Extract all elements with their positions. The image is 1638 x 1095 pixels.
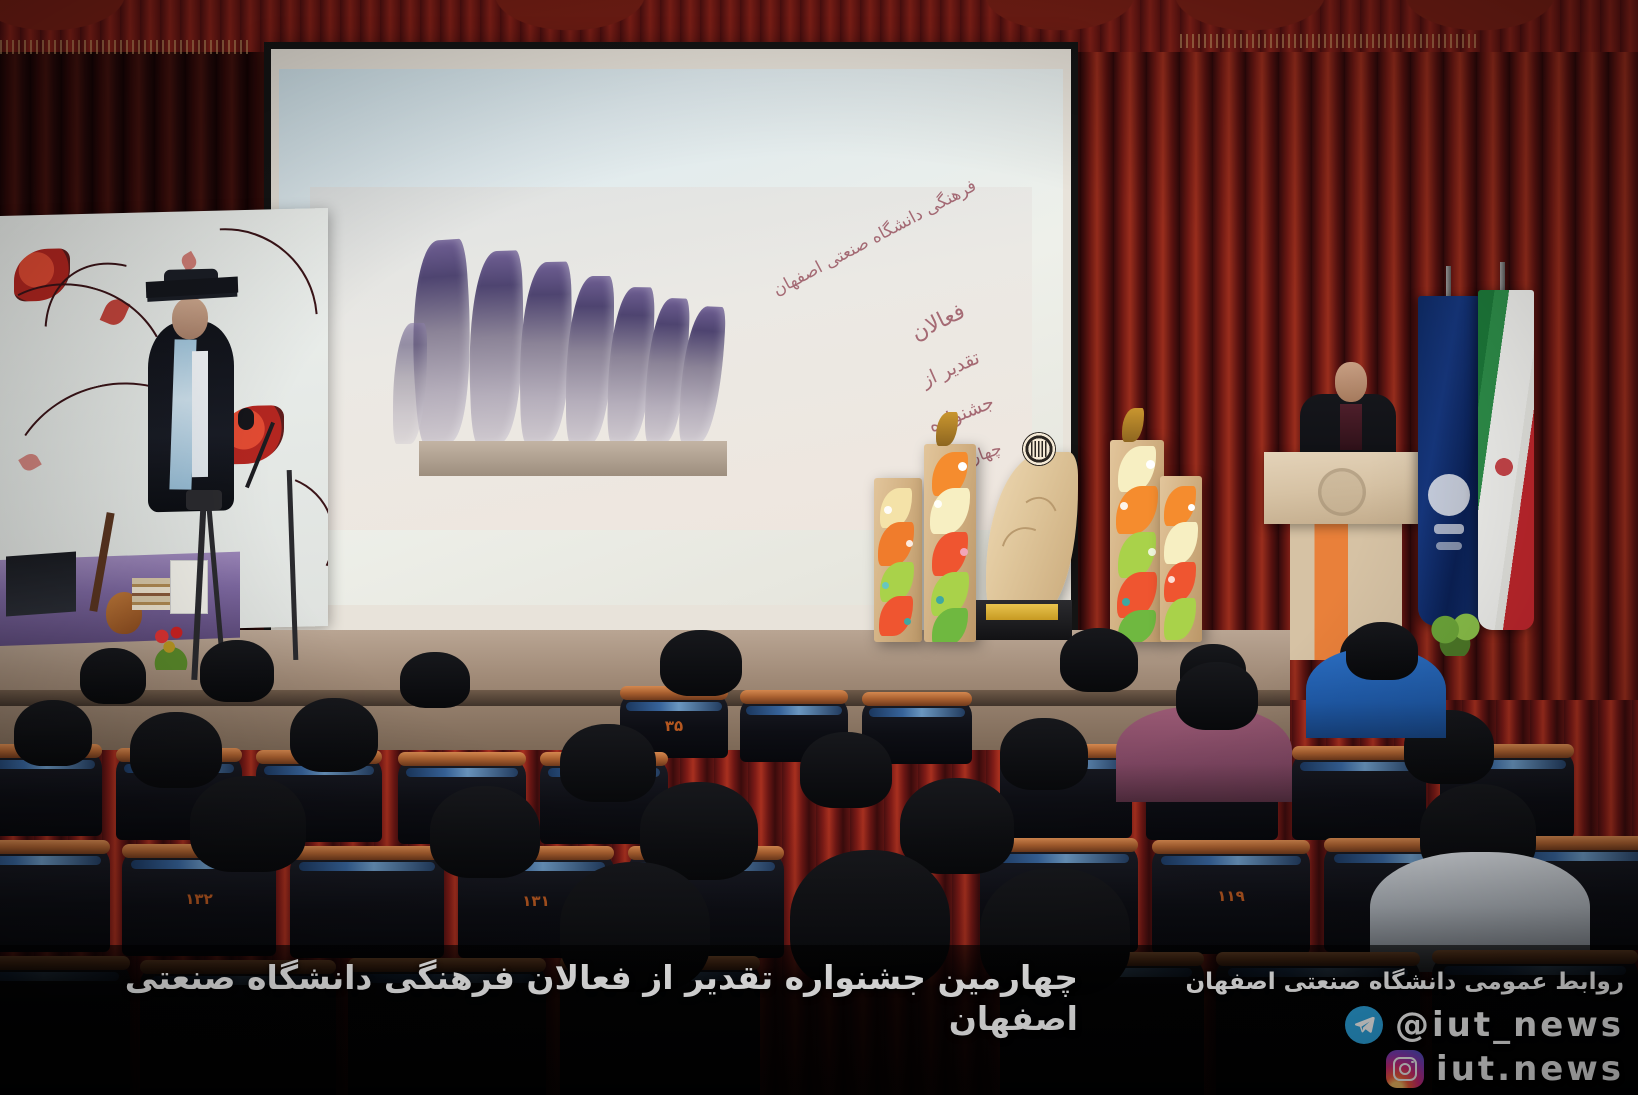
seat-number: ۱۱۹ [1152,887,1310,905]
audience-head [560,724,656,802]
valance-fringe [0,40,250,54]
audience-head [130,712,222,788]
microphone-icon [238,408,254,430]
slide-calligraphy-line-3: تقدیر از [918,347,983,392]
speaker-shirt [1340,404,1362,450]
valance-scallop [1380,0,1580,62]
slide-calligraphy-line-2: فعالان [908,299,970,346]
audience-head [1000,718,1088,790]
audience-head [290,698,378,772]
mannequin-shirt [192,351,208,477]
mannequin-head [172,297,208,340]
audience-head [400,652,470,708]
audience-head [1346,622,1418,680]
telegram-icon[interactable] [1345,1006,1383,1044]
audience-head [900,778,1014,874]
watermark-block: روابط عمومی دانشگاه صنعتی اصفهان @iut_ne… [1124,969,1624,1089]
audience-head [80,648,146,704]
audience-head [1060,628,1138,692]
valance-fringe [1180,34,1480,48]
camera-head [186,490,222,510]
auditorium-seat[interactable]: ۱۱۹ [1152,846,1310,954]
photograph-ceremony-hall: فرهنگی دانشگاه صنعتی اصفهان فعالان تقدیر… [0,0,1638,1095]
photo-caption: چهارمین جشنواره تقدیر از فعالان فرهنگی د… [14,957,1078,1040]
audience-head [430,786,540,878]
valance-scallop [1150,0,1350,62]
iut-emblem-icon [1022,432,1056,466]
seat-number: ۱۳۲ [122,890,276,908]
podium-emblem-icon [1318,468,1366,516]
audience-head [660,630,742,696]
audience-head [200,640,274,702]
instagram-icon[interactable] [1386,1050,1424,1088]
trophy-photo-group [397,207,772,481]
iran-flag [1478,290,1534,630]
audience-head [14,700,92,766]
telegram-handle[interactable]: @iut_news [1395,1005,1624,1045]
instagram-handle[interactable]: iut.news [1436,1049,1624,1089]
audience-head [800,732,892,808]
watermark-organization: روابط عمومی دانشگاه صنعتی اصفهان [1124,969,1624,997]
audience-head [190,776,306,872]
audience-head [1176,662,1258,730]
speaker-head [1335,362,1367,402]
auditorium-seat[interactable] [290,852,444,958]
instagram-row[interactable]: iut.news [1124,1049,1624,1089]
university-flag [1418,296,1480,626]
slide-calligraphy-line-1: فرهنگی دانشگاه صنعتی اصفهان [770,176,980,300]
telegram-row[interactable]: @iut_news [1124,1005,1624,1045]
auditorium-seat[interactable] [0,846,110,952]
